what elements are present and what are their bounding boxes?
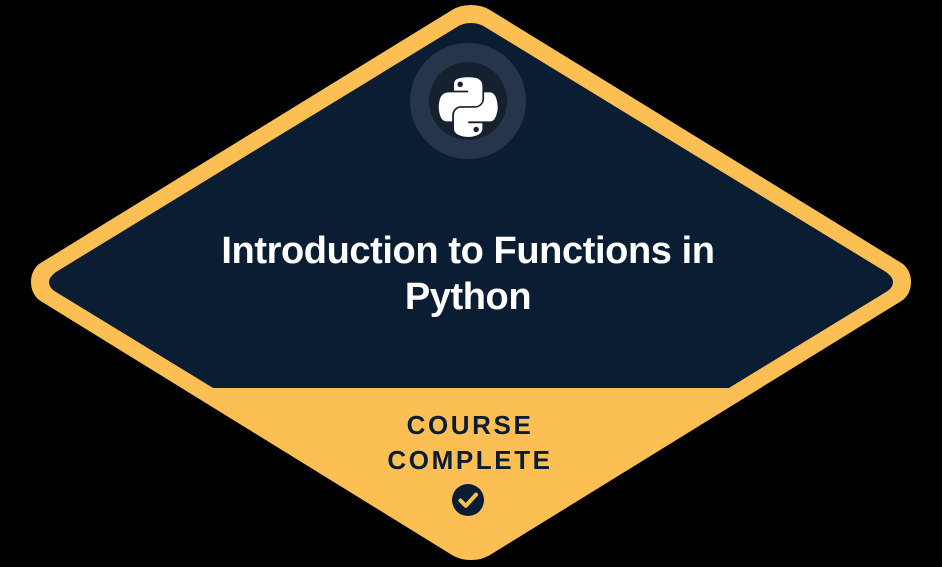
badge-graphic: Introduction to Functions in Python COUR… bbox=[0, 0, 942, 567]
status-label-line-2: COMPLETE bbox=[387, 445, 552, 475]
completion-check-badge bbox=[452, 484, 484, 516]
status-label-line-1: COURSE bbox=[407, 410, 534, 440]
course-title-line-2: Python bbox=[405, 276, 531, 318]
course-title-line-1: Introduction to Functions in bbox=[221, 230, 714, 272]
course-completion-badge: Introduction to Functions in Python COUR… bbox=[0, 0, 942, 567]
check-circle-background bbox=[452, 484, 484, 516]
